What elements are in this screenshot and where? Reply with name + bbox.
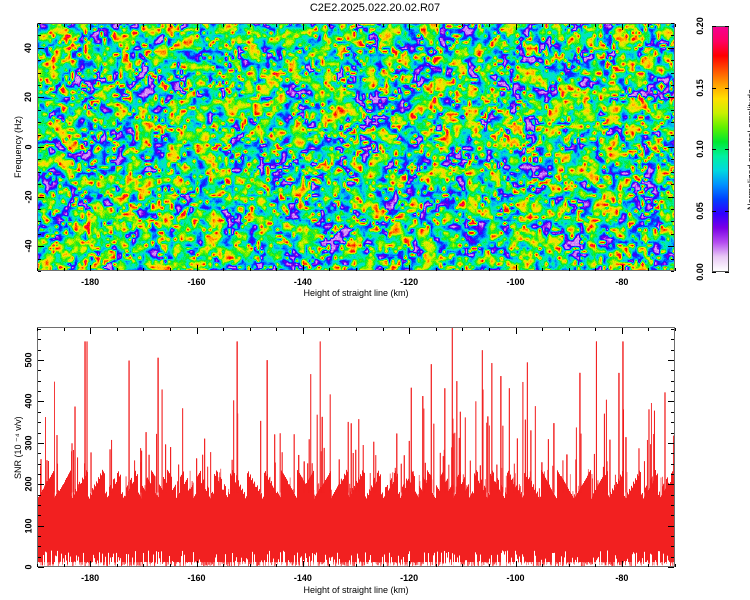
tick-mark	[516, 561, 517, 567]
tick-mark	[489, 564, 490, 567]
tick-mark	[383, 268, 384, 271]
tick-mark	[622, 265, 623, 271]
tick-mark	[329, 328, 330, 331]
tick-mark	[356, 564, 357, 567]
tick-mark	[38, 271, 41, 272]
tick-mark	[38, 515, 41, 516]
tick-mark	[329, 268, 330, 271]
tick-mark	[38, 209, 41, 210]
tick-mark	[38, 350, 41, 351]
tick-mark	[64, 564, 65, 567]
tick-mark	[409, 24, 410, 30]
tick-mark	[409, 265, 410, 271]
tick-mark	[671, 505, 674, 506]
tick-mark	[409, 561, 410, 567]
tick-mark	[671, 184, 674, 185]
tick-mark	[462, 268, 463, 271]
colorbar-tick-label: 0.05	[695, 202, 705, 220]
tick-mark	[648, 564, 649, 567]
tick-label: -140	[294, 277, 312, 287]
tick-mark	[143, 24, 144, 27]
tick-mark	[38, 381, 41, 382]
colorbar-tick	[712, 272, 716, 273]
tick-mark	[37, 24, 38, 27]
tick-mark	[143, 564, 144, 567]
tick-mark	[329, 24, 330, 27]
tick-mark	[38, 35, 41, 36]
tick-mark	[668, 97, 674, 98]
tick-mark	[170, 328, 171, 331]
tick-mark	[671, 159, 674, 160]
tick-mark	[668, 197, 674, 198]
tick-mark	[383, 564, 384, 567]
tick-mark	[671, 23, 674, 24]
tick-mark	[671, 271, 674, 272]
tick-mark	[671, 60, 674, 61]
colorbar-tick	[725, 149, 729, 150]
colorbar-tick	[725, 26, 729, 27]
page-title: C2E2.2025.022.20.02.R07	[0, 2, 750, 14]
colorbar-tick	[712, 149, 716, 150]
tick-mark	[223, 328, 224, 331]
tick-mark	[38, 484, 44, 485]
colorbar-tick	[712, 26, 716, 27]
tick-mark	[489, 328, 490, 331]
colorbar-tick-label: 0.20	[695, 17, 705, 35]
tick-mark	[383, 24, 384, 27]
tick-mark	[671, 35, 674, 36]
tick-mark	[223, 564, 224, 567]
snr-trace	[37, 327, 675, 567]
tick-mark	[542, 564, 543, 567]
tick-mark	[462, 564, 463, 567]
tick-mark	[90, 265, 91, 271]
tick-mark	[595, 328, 596, 331]
tick-label: 20	[23, 92, 33, 102]
tick-mark	[38, 536, 41, 537]
tick-mark	[38, 246, 44, 247]
tick-label: -120	[400, 573, 418, 583]
tick-mark	[38, 474, 41, 475]
tick-mark	[668, 246, 674, 247]
tick-mark	[489, 268, 490, 271]
tick-mark	[668, 401, 674, 402]
tick-mark	[276, 268, 277, 271]
colorbar-tick-label: 0.15	[695, 79, 705, 97]
tick-mark	[38, 135, 41, 136]
tick-mark	[462, 328, 463, 331]
tick-label: -160	[188, 573, 206, 583]
tick-label: -140	[294, 573, 312, 583]
tick-mark	[595, 564, 596, 567]
tick-mark	[671, 135, 674, 136]
tick-mark	[170, 268, 171, 271]
tick-mark	[250, 24, 251, 27]
tick-label: 40	[23, 43, 33, 53]
tick-mark	[671, 234, 674, 235]
tick-mark	[671, 73, 674, 74]
spectrogram-panel	[37, 23, 675, 271]
tick-mark	[38, 110, 41, 111]
tick-mark	[276, 328, 277, 331]
tick-mark	[117, 268, 118, 271]
tick-mark	[38, 73, 41, 74]
snr-panel	[37, 327, 675, 567]
tick-mark	[250, 328, 251, 331]
tick-mark	[542, 268, 543, 271]
tick-mark	[671, 259, 674, 260]
tick-mark	[250, 564, 251, 567]
tick-label: 0	[23, 564, 33, 569]
tick-mark	[197, 24, 198, 30]
tick-mark	[38, 221, 41, 222]
tick-mark	[329, 564, 330, 567]
tick-mark	[38, 147, 44, 148]
tick-mark	[671, 453, 674, 454]
tick-mark	[170, 24, 171, 27]
tick-label: 400	[23, 394, 33, 409]
tick-mark	[648, 268, 649, 271]
tick-mark	[223, 24, 224, 27]
tick-mark	[516, 328, 517, 334]
tick-mark	[276, 24, 277, 27]
tick-mark	[38, 234, 41, 235]
tick-mark	[671, 464, 674, 465]
tick-mark	[38, 464, 41, 465]
tick-mark	[409, 328, 410, 334]
tick-mark	[38, 370, 41, 371]
tick-label: -100	[507, 573, 525, 583]
tick-mark	[542, 24, 543, 27]
bottom-x-axis-title: Height of straight line (km)	[304, 585, 409, 595]
tick-mark	[542, 328, 543, 331]
tick-mark	[356, 24, 357, 27]
colorbar-tick	[712, 211, 716, 212]
tick-mark	[671, 495, 674, 496]
spectrogram-image	[37, 23, 675, 271]
tick-mark	[671, 370, 674, 371]
tick-mark	[436, 24, 437, 27]
tick-mark	[671, 221, 674, 222]
tick-mark	[675, 268, 676, 271]
tick-label: -160	[188, 277, 206, 287]
tick-mark	[38, 546, 41, 547]
tick-mark	[38, 391, 41, 392]
tick-mark	[383, 328, 384, 331]
tick-mark	[671, 536, 674, 537]
tick-mark	[671, 110, 674, 111]
tick-mark	[648, 24, 649, 27]
tick-mark	[64, 24, 65, 27]
tick-mark	[303, 561, 304, 567]
tick-mark	[38, 159, 41, 160]
tick-mark	[303, 24, 304, 30]
tick-mark	[276, 564, 277, 567]
tick-mark	[671, 557, 674, 558]
tick-mark	[436, 328, 437, 331]
tick-mark	[38, 184, 41, 185]
colorbar-title: Normalized spectral amplitude	[746, 88, 750, 209]
tick-label: -120	[400, 277, 418, 287]
tick-mark	[436, 268, 437, 271]
tick-mark	[38, 329, 41, 330]
tick-mark	[436, 564, 437, 567]
tick-mark	[197, 561, 198, 567]
tick-mark	[90, 24, 91, 30]
tick-mark	[223, 268, 224, 271]
tick-mark	[38, 259, 41, 260]
tick-mark	[595, 268, 596, 271]
colorbar-tick	[725, 88, 729, 89]
tick-mark	[569, 268, 570, 271]
tick-mark	[90, 328, 91, 334]
tick-mark	[671, 85, 674, 86]
tick-mark	[668, 567, 674, 568]
tick-mark	[38, 122, 41, 123]
tick-mark	[38, 172, 41, 173]
tick-mark	[668, 526, 674, 527]
tick-mark	[38, 60, 41, 61]
tick-mark	[38, 443, 44, 444]
tick-mark	[143, 268, 144, 271]
tick-mark	[38, 422, 41, 423]
tick-mark	[516, 265, 517, 271]
top-y-axis-title: Frequency (Hz)	[13, 116, 23, 178]
tick-mark	[668, 484, 674, 485]
tick-mark	[38, 505, 41, 506]
tick-mark	[668, 48, 674, 49]
tick-mark	[675, 24, 676, 27]
tick-mark	[38, 48, 44, 49]
tick-label: -80	[615, 277, 628, 287]
tick-mark	[516, 24, 517, 30]
tick-mark	[64, 268, 65, 271]
tick-mark	[569, 24, 570, 27]
tick-label: 200	[23, 477, 33, 492]
top-x-axis-title: Height of straight line (km)	[304, 288, 409, 298]
tick-mark	[38, 557, 41, 558]
tick-mark	[569, 564, 570, 567]
tick-mark	[671, 122, 674, 123]
colorbar-tick	[725, 272, 729, 273]
tick-label: 0	[23, 144, 33, 149]
tick-mark	[38, 197, 44, 198]
tick-mark	[64, 328, 65, 331]
tick-mark	[671, 209, 674, 210]
tick-mark	[622, 561, 623, 567]
tick-mark	[648, 328, 649, 331]
tick-mark	[38, 453, 41, 454]
tick-mark	[143, 328, 144, 331]
tick-mark	[671, 350, 674, 351]
tick-mark	[671, 329, 674, 330]
tick-mark	[595, 24, 596, 27]
tick-mark	[197, 328, 198, 334]
tick-mark	[489, 24, 490, 27]
tick-mark	[569, 328, 570, 331]
bottom-y-axis-title: SNR (10 ⁻⁴ v/v)	[13, 416, 24, 479]
tick-mark	[668, 443, 674, 444]
tick-mark	[117, 328, 118, 331]
tick-mark	[671, 381, 674, 382]
tick-mark	[38, 412, 41, 413]
tick-mark	[671, 172, 674, 173]
tick-mark	[668, 147, 674, 148]
tick-mark	[622, 328, 623, 334]
tick-mark	[675, 328, 676, 331]
colorbar-tick-label: 0.00	[695, 263, 705, 281]
tick-mark	[671, 474, 674, 475]
tick-mark	[671, 422, 674, 423]
tick-mark	[90, 561, 91, 567]
tick-mark	[38, 526, 44, 527]
tick-mark	[38, 339, 41, 340]
tick-mark	[38, 97, 44, 98]
tick-mark	[671, 433, 674, 434]
tick-mark	[38, 495, 41, 496]
tick-mark	[197, 265, 198, 271]
tick-mark	[303, 328, 304, 334]
tick-mark	[671, 339, 674, 340]
tick-label: 300	[23, 435, 33, 450]
tick-label: 500	[23, 353, 33, 368]
tick-mark	[38, 360, 44, 361]
tick-mark	[38, 567, 44, 568]
tick-mark	[38, 85, 41, 86]
tick-mark	[356, 268, 357, 271]
tick-mark	[170, 564, 171, 567]
tick-label: -100	[507, 277, 525, 287]
tick-mark	[38, 433, 41, 434]
tick-mark	[462, 24, 463, 27]
tick-mark	[622, 24, 623, 30]
tick-mark	[356, 328, 357, 331]
tick-mark	[671, 546, 674, 547]
figure-root: C2E2.2025.022.20.02.R07 -180-160-140-120…	[0, 0, 750, 600]
tick-mark	[38, 23, 41, 24]
colorbar-tick-label: 0.10	[695, 140, 705, 158]
tick-mark	[250, 268, 251, 271]
tick-mark	[117, 564, 118, 567]
tick-label: 100	[23, 518, 33, 533]
tick-mark	[671, 391, 674, 392]
tick-mark	[671, 515, 674, 516]
tick-label: -20	[23, 190, 33, 203]
tick-label: -80	[615, 573, 628, 583]
tick-mark	[117, 24, 118, 27]
tick-mark	[303, 265, 304, 271]
tick-mark	[668, 360, 674, 361]
colorbar-tick	[725, 211, 729, 212]
tick-label: -180	[81, 277, 99, 287]
tick-mark	[38, 401, 44, 402]
tick-mark	[671, 412, 674, 413]
colorbar-tick	[712, 88, 716, 89]
tick-label: -40	[23, 240, 33, 253]
tick-label: -180	[81, 573, 99, 583]
tick-mark	[675, 564, 676, 567]
